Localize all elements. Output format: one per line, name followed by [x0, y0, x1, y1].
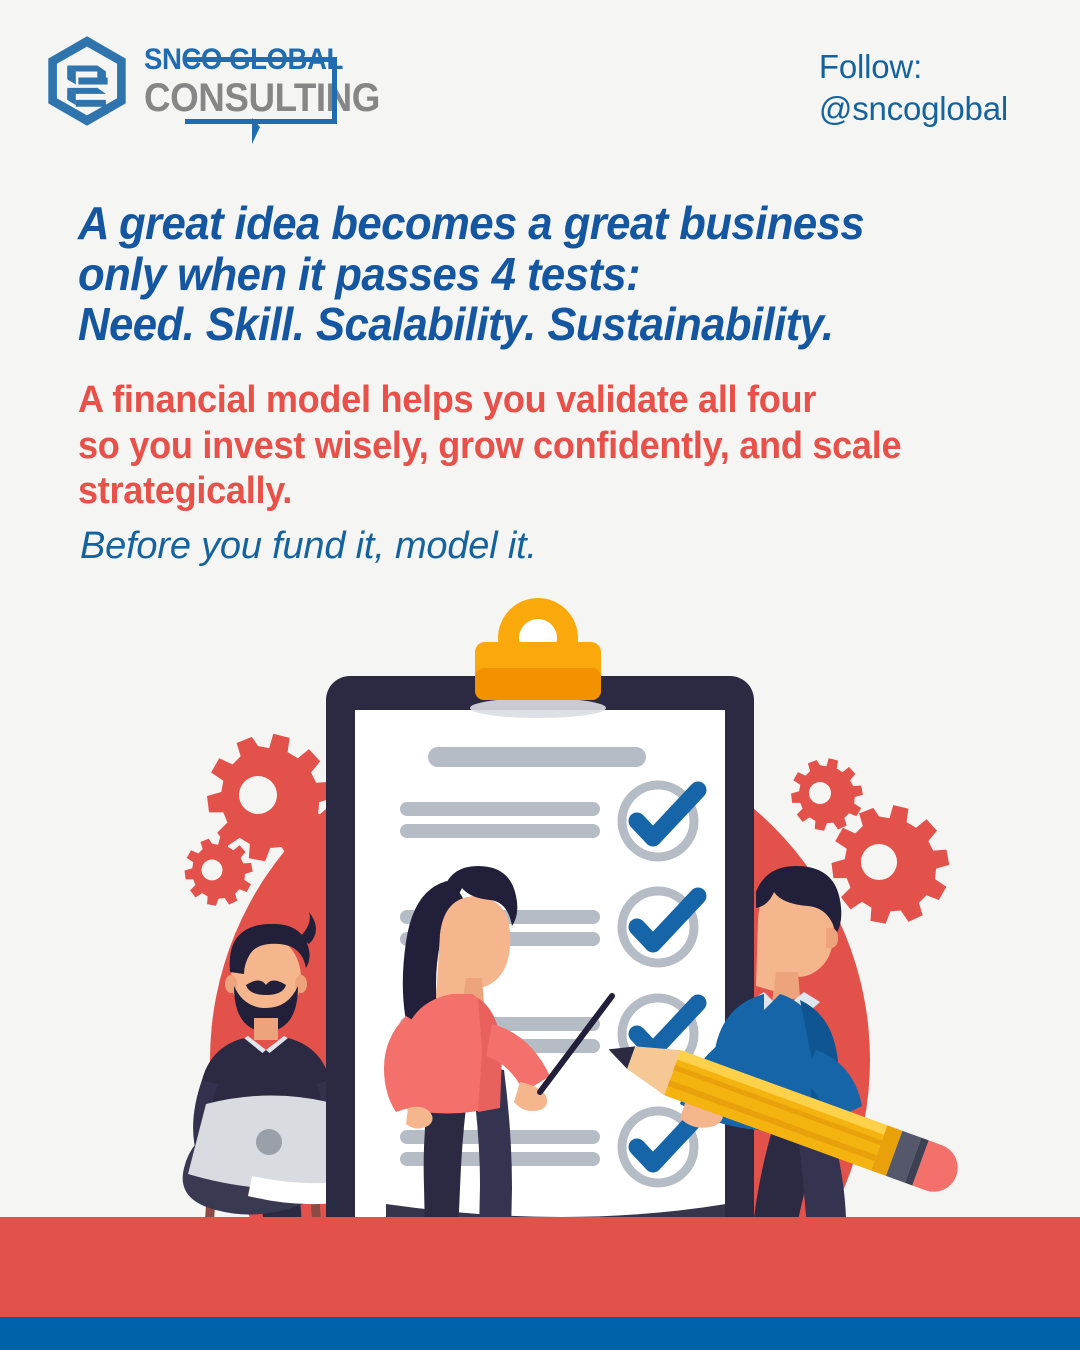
headline-line-2: only when it passes 4 tests:	[78, 249, 933, 300]
subcopy-line-2: so you invest wisely, grow confidently, …	[78, 424, 933, 470]
brand-speech-bubble-outline	[185, 62, 337, 124]
follow-label: Follow:	[819, 46, 1008, 88]
follow-handle[interactable]: @sncoglobal	[819, 88, 1008, 130]
brand-bubble-tail-icon	[252, 118, 260, 144]
clipboard-title-bar	[428, 747, 646, 767]
clipboard-clip-icon	[475, 598, 601, 700]
clipboard	[326, 598, 754, 1280]
subheading: A financial model helps you validate all…	[78, 378, 978, 515]
text-line	[400, 802, 600, 816]
page-title: A great idea becomes a great business on…	[78, 198, 978, 350]
floor-band	[0, 1217, 1080, 1317]
poster-canvas: SNCO GLOBAL CONSULTING Follow: @sncoglob…	[0, 0, 1080, 1350]
bottom-accent-bar	[0, 1317, 1080, 1350]
gear-icon	[185, 837, 253, 906]
gear-icon	[791, 758, 863, 831]
brand-bubble-left-stub	[185, 119, 223, 124]
hexagon-s-logo-icon	[44, 34, 130, 128]
gear-icon	[832, 805, 950, 924]
subcopy-line-3: strategically.	[78, 469, 933, 515]
headline-line-1: A great idea becomes a great business	[78, 198, 933, 249]
headline-line-3: Need. Skill. Scalability. Sustainability…	[78, 299, 933, 350]
subcopy-line-1: A financial model helps you validate all…	[78, 378, 933, 424]
text-line	[400, 824, 600, 838]
tagline: Before you fund it, model it.	[80, 525, 537, 568]
follow-block: Follow: @sncoglobal	[819, 46, 1008, 130]
poster-header: SNCO GLOBAL CONSULTING Follow: @sncoglob…	[0, 0, 1080, 170]
